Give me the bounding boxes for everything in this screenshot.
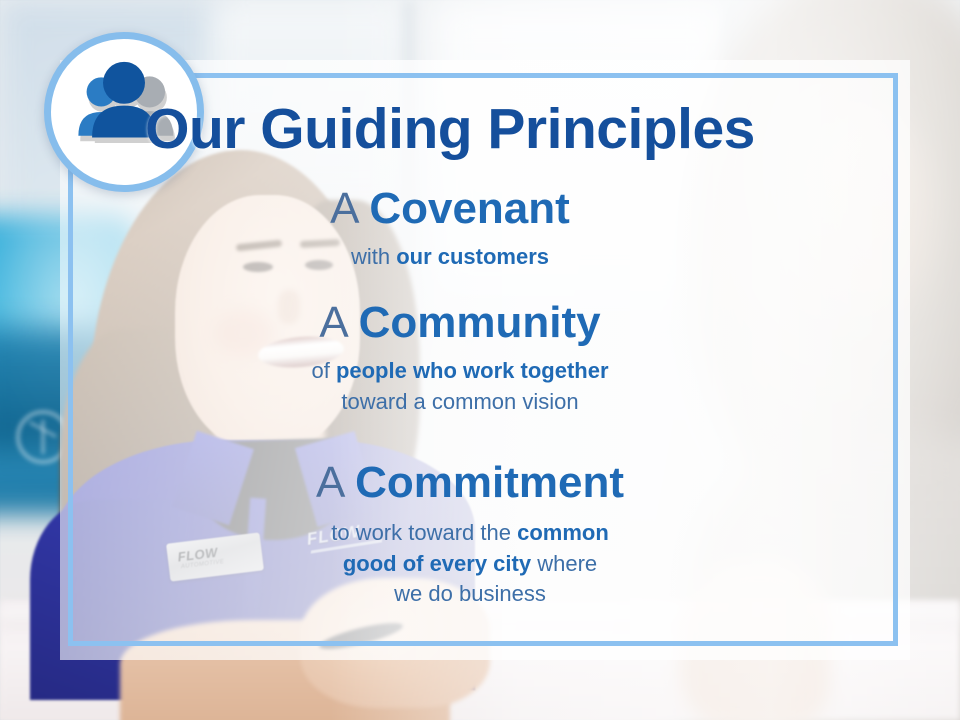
detail-line: with our customers: [0, 242, 900, 272]
detail-emphasis: common: [517, 520, 609, 545]
principle-keyword: Community: [359, 298, 601, 347]
guiding-principles-graphic: FLOW AUTOMOTIVE FLOW: [0, 0, 960, 720]
principle-headline: A Covenant: [0, 186, 900, 232]
detail-text: to work toward the: [331, 520, 517, 545]
detail-emphasis: good of every city: [343, 551, 531, 576]
principle-detail: to work toward the commongood of every c…: [0, 518, 940, 609]
principle-keyword: Covenant: [369, 184, 569, 233]
principle-article: A: [316, 458, 343, 507]
principle-headline: A Commitment: [0, 460, 940, 506]
detail-text: toward a common vision: [341, 389, 578, 414]
principle-detail: of people who work togethertoward a comm…: [0, 356, 920, 417]
principle-article: A: [330, 184, 357, 233]
principle-block-commitment: A Commitment to work toward the commongo…: [0, 460, 960, 609]
page-title: Our Guiding Principles: [0, 96, 960, 162]
detail-line: good of every city where: [0, 549, 940, 579]
detail-line: toward a common vision: [0, 387, 920, 417]
detail-line: of people who work together: [0, 356, 920, 386]
detail-emphasis: people who work together: [336, 358, 609, 383]
principle-block-covenant: A Covenant with our customers: [0, 186, 900, 273]
principle-article: A: [319, 298, 346, 347]
detail-text: of: [311, 358, 335, 383]
detail-text: with: [351, 244, 396, 269]
principle-detail: with our customers: [0, 242, 900, 272]
detail-line: we do business: [0, 579, 940, 609]
principle-block-community: A Community of people who work togethert…: [0, 300, 960, 417]
detail-emphasis: our customers: [396, 244, 549, 269]
detail-text: we do business: [394, 581, 546, 606]
principle-headline: A Community: [0, 300, 920, 346]
detail-line: to work toward the common: [0, 518, 940, 548]
detail-text: where: [531, 551, 597, 576]
principle-keyword: Commitment: [355, 458, 624, 507]
